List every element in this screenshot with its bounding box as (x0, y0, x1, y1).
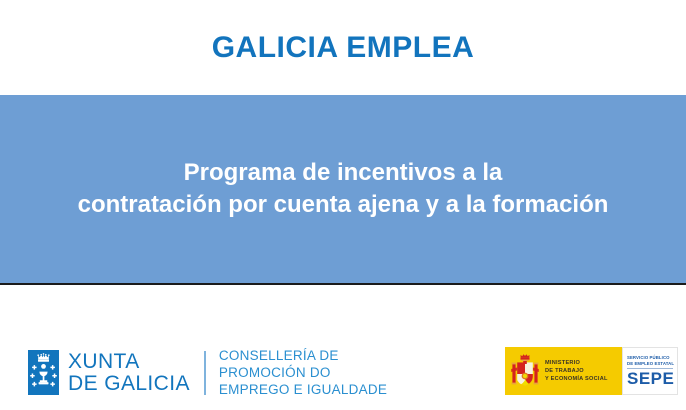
ministerio-line-3: Y ECONOMÍA SOCIAL (545, 375, 608, 383)
program-banner-line-2: contratación por cuenta ajena y a la for… (10, 189, 676, 221)
header-banner: GALICIA EMPLEA (0, 0, 686, 95)
sepe-logo: SERVICIO PÚBLICO DE EMPLEO ESTATAL SEPE (622, 347, 678, 395)
conselleria-line-3: EMPREGO E IGUALDADE (219, 381, 387, 398)
program-banner: Programa de incentivos a la contratación… (0, 95, 686, 283)
ministerio-line-2: DE TRABAJO (545, 367, 608, 375)
page-title: GALICIA EMPLEA (212, 31, 475, 65)
sepe-full-name-line-2: DE EMPLEO ESTATAL (627, 361, 673, 367)
galicia-coat-of-arms-icon (28, 350, 59, 395)
logo-divider (204, 351, 206, 395)
ministerio-line-1: MINISTERIO (545, 359, 608, 367)
ministerio-sepe-logo: MINISTERIO DE TRABAJO Y ECONOMÍA SOCIAL … (505, 347, 678, 395)
sepe-acronym: SEPE (627, 370, 673, 387)
xunta-wordmark: XUNTA DE GALICIA (68, 351, 190, 395)
spain-coat-of-arms-icon (510, 352, 540, 390)
xunta-wordmark-line-1: XUNTA (68, 351, 190, 373)
conselleria-line-1: CONSELLERÍA DE (219, 347, 387, 364)
conselleria-line-2: PROMOCIÓN DO (219, 364, 387, 381)
sepe-full-name: SERVICIO PÚBLICO DE EMPLEO ESTATAL (627, 355, 673, 367)
program-banner-line-1: Programa de incentivos a la (10, 157, 676, 189)
xunta-wordmark-line-2: DE GALICIA (68, 373, 190, 395)
ministerio-de-trabajo-logo: MINISTERIO DE TRABAJO Y ECONOMÍA SOCIAL (505, 347, 622, 395)
xunta-de-galicia-logo: XUNTA DE GALICIA CONSELLERÍA DE PROMOCIÓ… (28, 347, 387, 398)
sepe-full-name-line-1: SERVICIO PÚBLICO (627, 355, 673, 361)
program-banner-text: Programa de incentivos a la contratación… (0, 157, 686, 220)
ministerio-wordmark: MINISTERIO DE TRABAJO Y ECONOMÍA SOCIAL (545, 359, 608, 383)
conselleria-wordmark: CONSELLERÍA DE PROMOCIÓN DO EMPREGO E IG… (219, 347, 387, 398)
